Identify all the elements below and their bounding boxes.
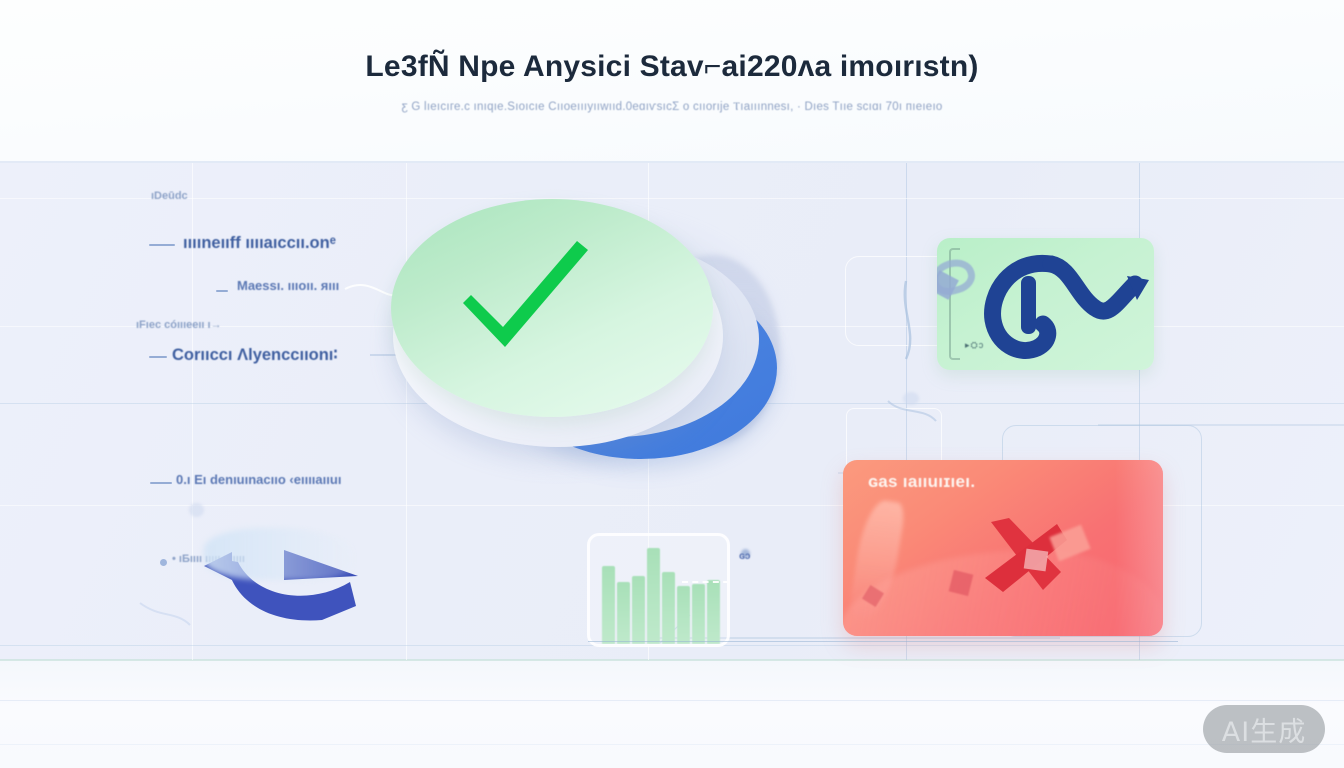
hairline-upper xyxy=(0,700,1344,701)
wave-curve-glyph-icon xyxy=(959,250,1154,362)
chart-bar xyxy=(617,582,630,644)
chart-badge-label: ɢɔ xyxy=(739,551,750,562)
x-mark-icon xyxy=(981,518,1067,596)
background-bottom xyxy=(0,660,1344,768)
chart-bar xyxy=(692,584,705,644)
chart-bars xyxy=(602,544,720,644)
sidebar-item-5: 0.ı Eı denıuınacııo ‹еııııaııuı xyxy=(176,472,341,487)
chart-bar xyxy=(707,580,720,644)
sidebar-item-4: Corııccı Λlyеnccııonı∶ xyxy=(172,345,338,365)
metric-card-error[interactable]: ɢas ıaııuıɪıeı. xyxy=(843,460,1163,636)
metric-card-success[interactable]: ▸⛭ɔ xyxy=(937,238,1154,370)
page-subtitle: ƹ G lıеıcıге.c ınıqıе.Sıoıcıе Cııoеıııyı… xyxy=(0,101,1344,114)
chart-threshold-line xyxy=(682,581,730,583)
status-disc-stack xyxy=(385,185,795,460)
check-mark-icon xyxy=(455,237,595,355)
chart-baseline xyxy=(588,641,1178,642)
chart-bar xyxy=(602,566,615,644)
bullet-dash xyxy=(216,290,228,292)
decor-blob xyxy=(189,503,204,517)
bullet-dash xyxy=(149,244,175,246)
chart-bar xyxy=(662,572,675,644)
hairline-lower xyxy=(0,744,1344,745)
ai-generated-watermark: AI生成 xyxy=(1203,705,1325,753)
sidebar-item-3: ıFıеc cóıııееıı ı→ xyxy=(136,319,222,331)
mini-bar-chart[interactable] xyxy=(587,533,730,647)
decor-blob xyxy=(903,392,919,405)
sidebar-item-2: Maеssı. ıııoıı. яııı xyxy=(237,278,339,293)
chart-bar xyxy=(677,586,690,644)
card-sheen xyxy=(1115,460,1163,636)
chart-bar xyxy=(647,548,660,644)
illustration-canvas: Le3fÑ Npe Anysici Stav⌐ai220ʌa imoırıstn… xyxy=(0,0,1344,768)
card-chip-label: ▸⛭ɔ xyxy=(965,340,984,351)
sidebar-item-0: ıDеūdc xyxy=(151,190,188,202)
refresh-cycle-arrow-icon xyxy=(198,536,368,630)
sidebar-item-1: ııııneııff ııııaıccıı.onᵉ xyxy=(183,234,336,253)
watermark-label: AI生成 xyxy=(1222,710,1306,749)
arrow-glow xyxy=(204,528,354,580)
bullet-dot xyxy=(160,559,167,566)
card-error-title: ɢas ıaııuıɪıeı. xyxy=(868,472,975,492)
bullet-dash xyxy=(150,482,172,484)
page-title: Le3fÑ Npe Anysici Stav⌐ai220ʌa imoırıstn… xyxy=(0,50,1344,84)
chart-bar xyxy=(632,576,645,644)
bullet-dash xyxy=(149,356,167,358)
title-block: Le3fÑ Npe Anysici Stav⌐ai220ʌa imoırıstn… xyxy=(0,50,1344,114)
